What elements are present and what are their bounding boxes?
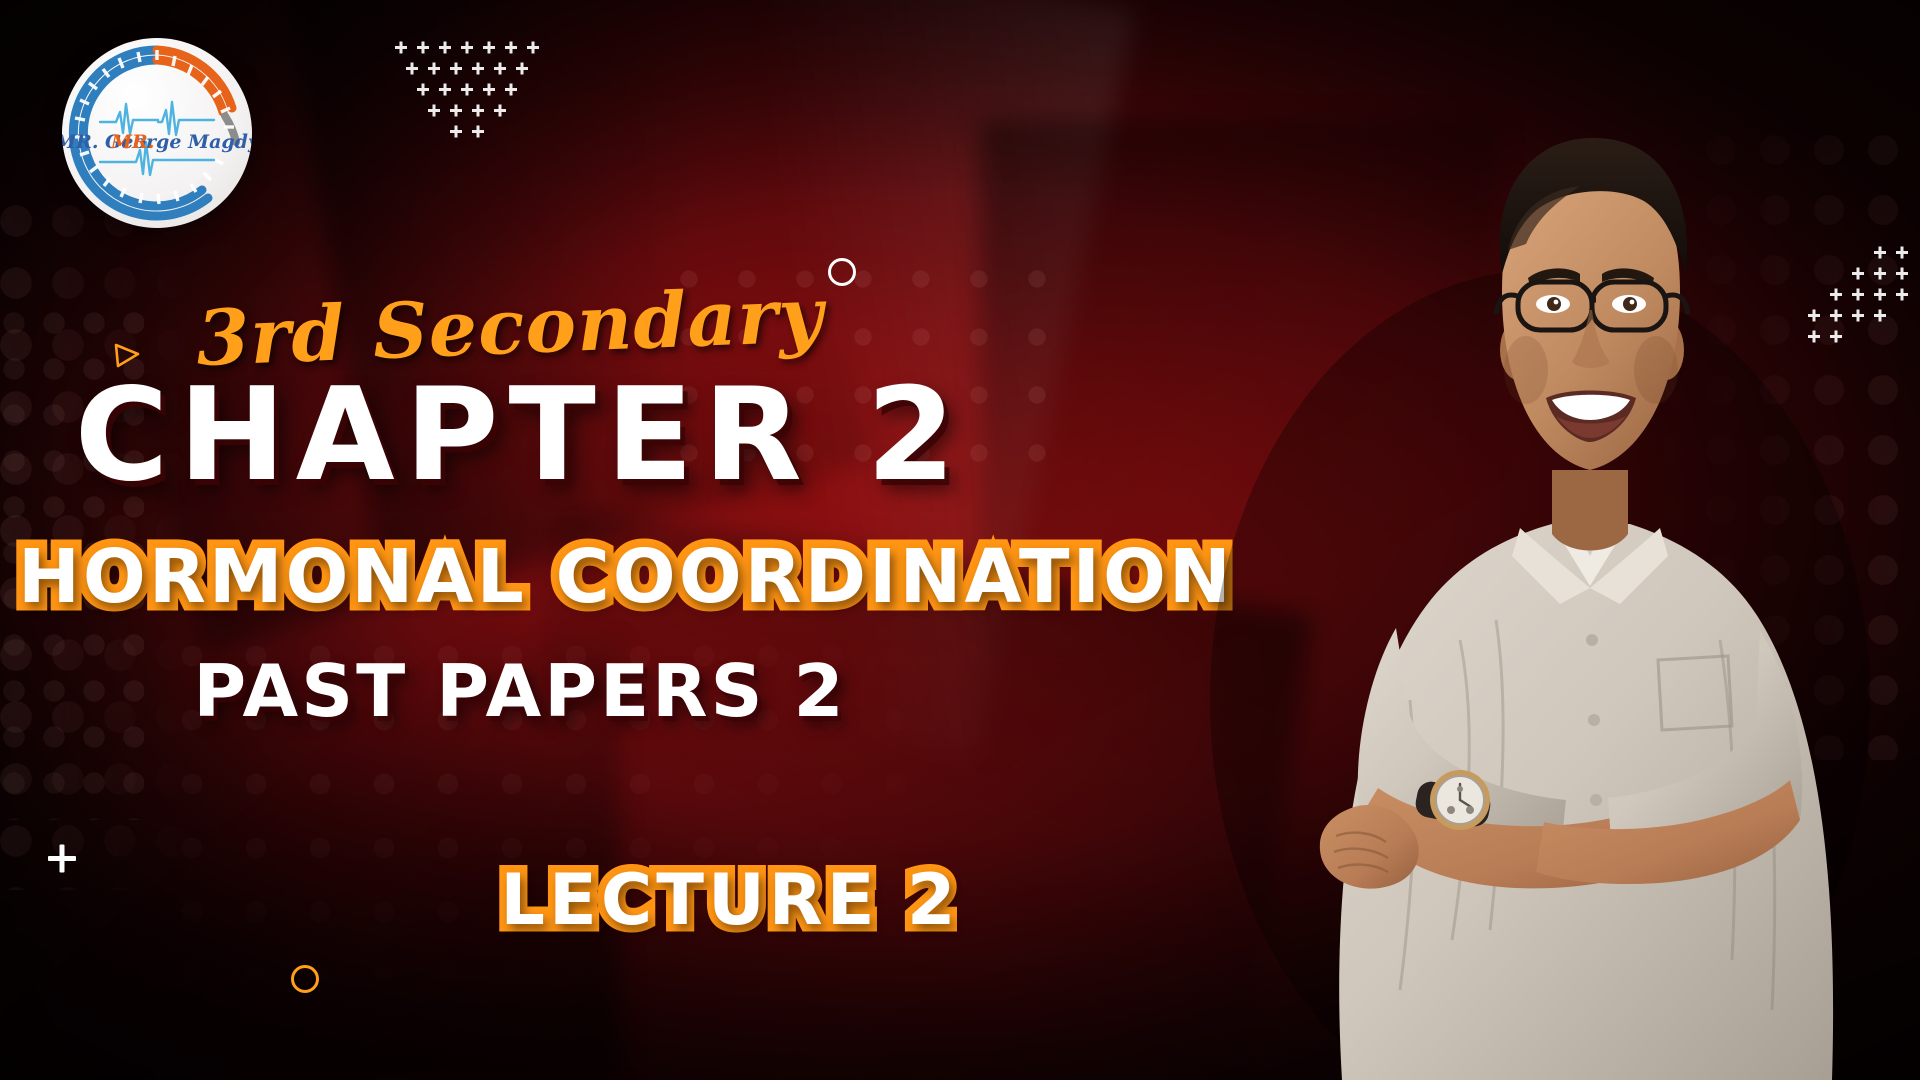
brand-logo-artwork: MR. George Magdy MR. bbox=[62, 38, 252, 228]
plus-mark-icon bbox=[44, 840, 80, 876]
plus-grid-top-icon bbox=[392, 38, 552, 148]
topic-badge: HORMONAL COORDINATION bbox=[0, 534, 1040, 621]
circle-outline-bottom-icon bbox=[291, 965, 319, 993]
lecture-text: LECTURE 2 bbox=[484, 860, 975, 942]
lecture-badge: LECTURE 2 bbox=[380, 860, 1080, 942]
plus-grid-right-icon bbox=[1783, 243, 1913, 353]
topic-text: HORMONAL COORDINATION bbox=[0, 534, 1252, 621]
brand-logo-text: MR. George Magdy bbox=[62, 131, 252, 153]
thumbnail-canvas: MR. George Magdy MR. 3rd Secondary CHAPT… bbox=[0, 0, 1920, 1080]
subtitle-text: PAST PAPERS 2 bbox=[0, 655, 1040, 727]
svg-text:MR.: MR. bbox=[110, 131, 154, 153]
brand-logo-badge[interactable]: MR. George Magdy MR. bbox=[62, 38, 252, 228]
page-title: CHAPTER 2 bbox=[0, 372, 1040, 500]
